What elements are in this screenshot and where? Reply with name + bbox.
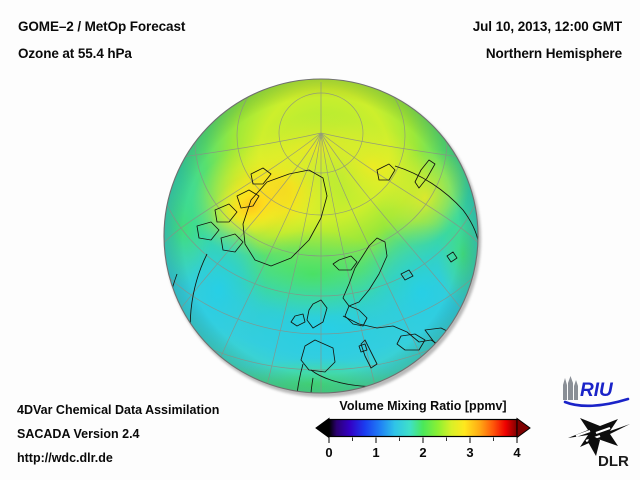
header-title: GOME–2 / MetOp Forecast — [18, 19, 185, 34]
dlr-logo-text: DLR — [598, 453, 629, 470]
footer-version: SACADA Version 2.4 — [17, 427, 140, 441]
ozone-orthographic-map — [163, 78, 479, 394]
colorbar-tick-labels: 01234 — [310, 445, 536, 467]
colorbar-ticks — [329, 438, 517, 444]
colorbar-cap-right-triangle — [517, 419, 530, 438]
colorbar-bar — [329, 420, 517, 437]
riu-logo-text: RIU — [580, 380, 614, 401]
header-datetime: Jul 10, 2013, 12:00 GMT — [473, 19, 622, 34]
header-subtitle: Ozone at 55.4 hPa — [18, 46, 132, 61]
header-region: Northern Hemisphere — [486, 46, 622, 61]
colorbar-cap-left-triangle — [316, 419, 329, 438]
riu-logo: RIU — [560, 374, 632, 408]
figure-canvas: GOME–2 / MetOp Forecast Ozone at 55.4 hP… — [0, 0, 640, 480]
colorbar-tick-label: 2 — [419, 445, 426, 460]
colorbar: Volume Mixing Ratio [ppmv] 01234 — [310, 399, 536, 471]
footer-method: 4DVar Chemical Data Assimilation — [17, 403, 219, 417]
globe-disk — [63, 0, 579, 410]
colorbar-tick-label: 1 — [372, 445, 379, 460]
colorbar-tick-label: 4 — [513, 445, 520, 460]
globe-map — [163, 78, 479, 394]
dlr-logo: DLR — [566, 412, 632, 470]
footer-url[interactable]: http://wdc.dlr.de — [17, 451, 113, 465]
colorbar-tick-label: 3 — [466, 445, 473, 460]
colorbar-title: Volume Mixing Ratio [ppmv] — [310, 399, 536, 413]
colorbar-gradient — [310, 418, 536, 444]
colorbar-tick-label: 0 — [325, 445, 332, 460]
riu-towers-icon — [563, 376, 578, 400]
